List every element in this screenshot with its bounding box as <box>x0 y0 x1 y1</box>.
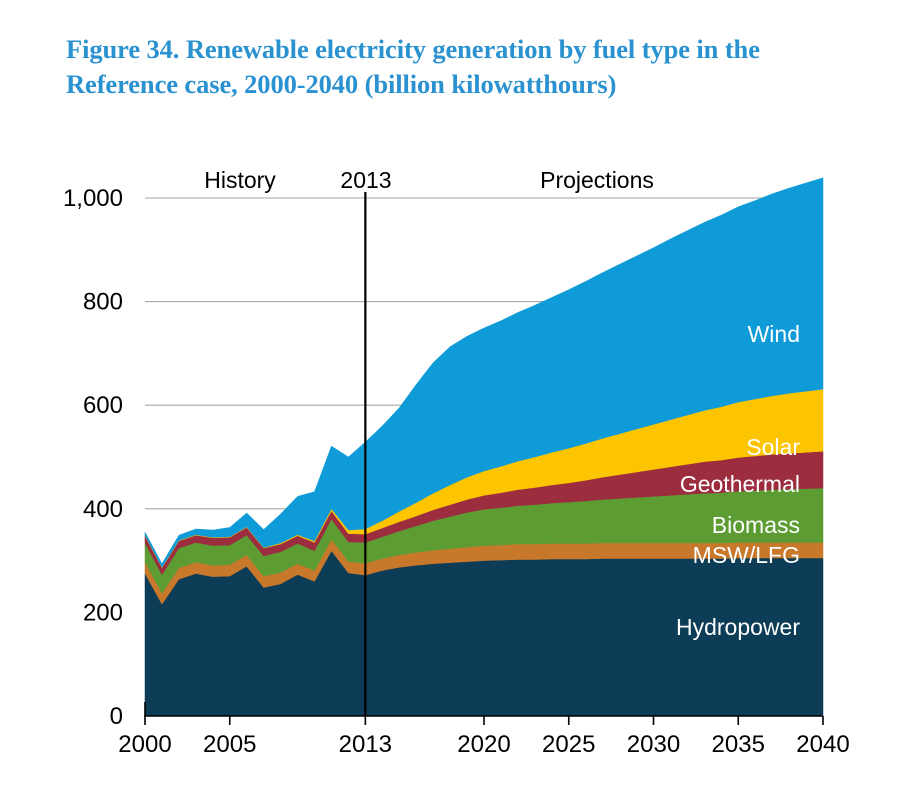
stacked-area-chart: 02004006008001,000 200020052013202020252… <box>0 0 900 800</box>
y-tick-label: 600 <box>83 392 123 419</box>
x-tick-label: 2020 <box>457 731 510 758</box>
y-tick-label: 0 <box>110 703 123 730</box>
chart-container: 02004006008001,000 200020052013202020252… <box>0 0 900 800</box>
history-label: History <box>204 167 276 193</box>
series-label-geothermal: Geothermal <box>680 471 800 497</box>
y-axis-tick-labels: 02004006008001,000 <box>63 185 123 730</box>
projections-label: Projections <box>540 167 654 193</box>
y-tick-label: 1,000 <box>63 185 123 212</box>
series-label-hydropower: Hydropower <box>676 614 800 640</box>
series-label-solar: Solar <box>746 434 800 460</box>
x-tick-label: 2030 <box>627 731 680 758</box>
divider-year-label: 2013 <box>340 167 391 193</box>
series-label-msw-lfg: MSW/LFG <box>693 542 800 568</box>
x-tick-label: 2005 <box>203 731 256 758</box>
x-tick-label: 2035 <box>712 731 765 758</box>
series-label-wind: Wind <box>748 321 800 347</box>
series-label-biomass: Biomass <box>712 512 800 538</box>
x-tick-label: 2013 <box>339 731 392 758</box>
x-axis-tick-labels: 20002005201320202025203020352040 <box>118 731 849 758</box>
y-tick-label: 400 <box>83 496 123 523</box>
x-tick-label: 2025 <box>542 731 595 758</box>
x-tick-label: 2000 <box>118 731 171 758</box>
y-tick-label: 800 <box>83 289 123 316</box>
y-tick-label: 200 <box>83 599 123 626</box>
x-tick-label: 2040 <box>796 731 849 758</box>
